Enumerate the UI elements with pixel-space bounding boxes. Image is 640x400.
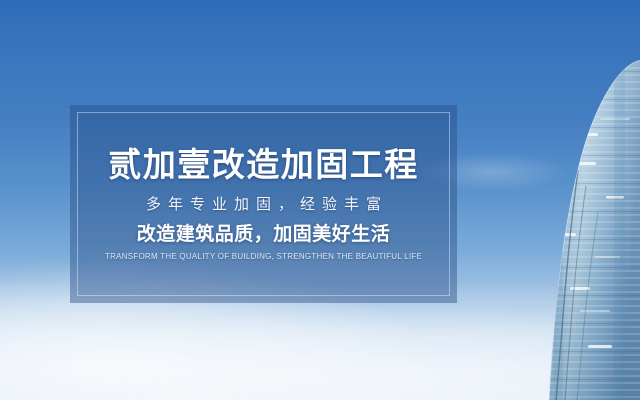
banner-screenshot: 贰加壹改造加固工程 多年专业加固，经验丰富 改造建筑品质，加固美好生活 TRAN…	[0, 0, 640, 400]
skyscraper-icon	[510, 0, 640, 400]
headline-title: 贰加壹改造加固工程	[108, 148, 419, 181]
panel-content: 贰加壹改造加固工程 多年专业加固，经验丰富 改造建筑品质，加固美好生活 TRAN…	[70, 105, 457, 303]
slogan-text: 改造建筑品质，加固美好生活	[137, 225, 391, 244]
english-subline: TRANSFORM THE QUALITY OF BUILDING, STREN…	[105, 253, 422, 261]
tower-details	[510, 0, 640, 400]
text-panel: 贰加壹改造加固工程 多年专业加固，经验丰富 改造建筑品质，加固美好生活 TRAN…	[70, 105, 457, 303]
skyscraper-image	[510, 0, 640, 400]
tagline-text: 多年专业加固，经验丰富	[139, 197, 388, 212]
